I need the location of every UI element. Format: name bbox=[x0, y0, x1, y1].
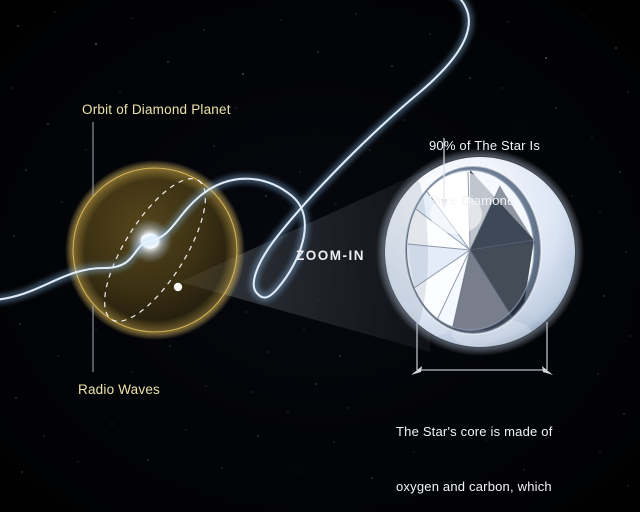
pure-diamond-percentage-label: 90% of The Star Is Pure Diamond bbox=[429, 100, 540, 248]
core-desc-line-2: oxygen and carbon, which bbox=[396, 478, 553, 496]
pure-diamond-line-1: 90% of The Star Is bbox=[429, 137, 540, 155]
zoom-in-label: ZOOM-IN bbox=[296, 248, 365, 263]
radio-waves-label: Radio Waves bbox=[78, 380, 160, 399]
infographic-canvas: Orbit of Diamond Planet Radio Waves ZOOM… bbox=[0, 0, 640, 512]
star-core-description-label: The Star's core is made of oxygen and ca… bbox=[396, 386, 553, 512]
pure-diamond-line-2: Pure Diamond bbox=[429, 192, 540, 210]
core-dimension-bracket bbox=[417, 322, 547, 370]
orbit-of-diamond-planet-label: Orbit of Diamond Planet bbox=[82, 100, 231, 119]
core-desc-line-1: The Star's core is made of bbox=[396, 423, 553, 441]
